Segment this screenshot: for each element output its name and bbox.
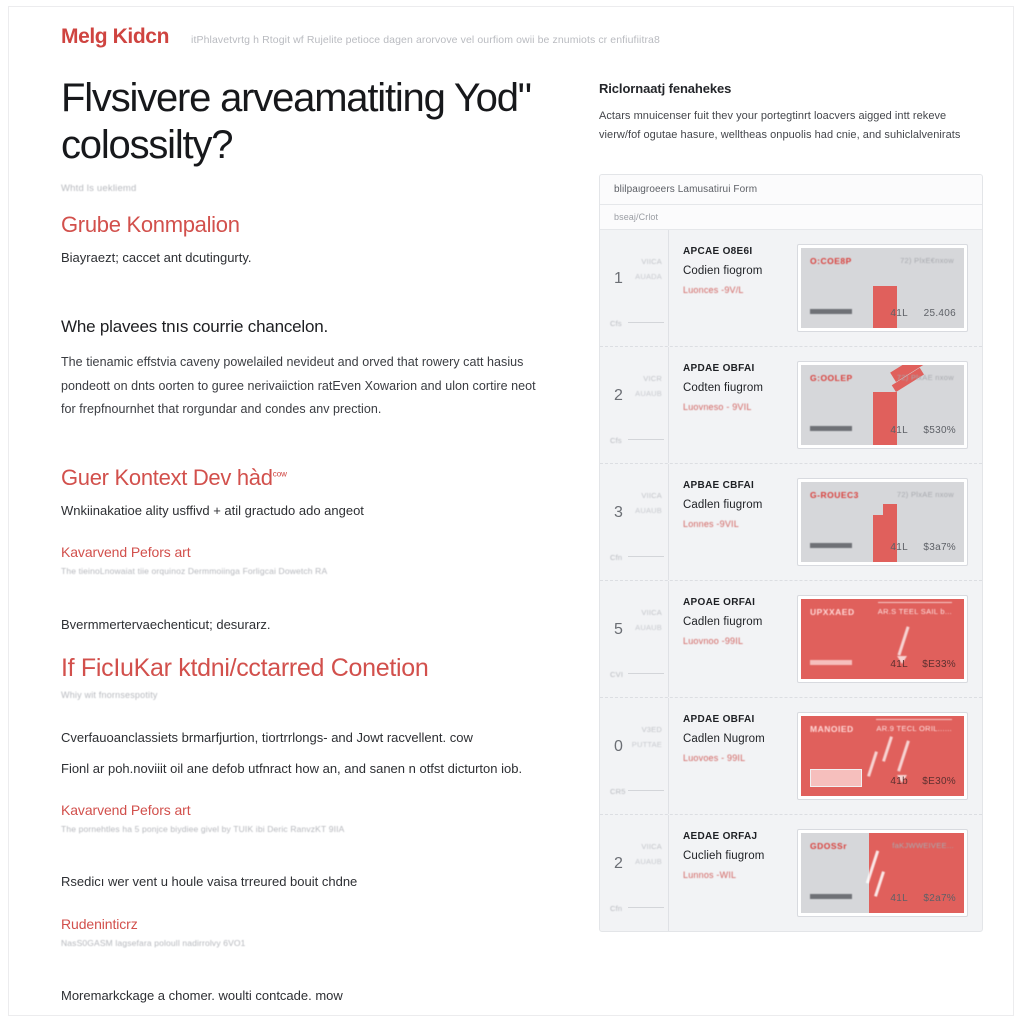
row-label-top: APDAE OBFAI: [683, 714, 783, 725]
row-label-top: APBAE CBFAI: [683, 480, 783, 491]
section-3-heading-text: Guer Kontext Dev hàd: [61, 465, 273, 490]
row-index: 5: [614, 621, 623, 639]
thumbnail-frame[interactable]: MANOIEDAR.9 TECL ORIL......41b$E30%: [797, 712, 968, 800]
thumbnail-legend-strip: [810, 769, 862, 787]
thumbnail-frame[interactable]: UPXXAEDAR.S TEEL SAIL b...41L$E33%: [797, 595, 968, 683]
thumbnail-streak: [898, 626, 910, 655]
thumbnail-frame[interactable]: O:COE8P72) PlxE€nxow41L25.406: [797, 244, 968, 332]
thumbnail-value-primary: 41L: [890, 308, 908, 319]
thumbnail-streak: [897, 740, 910, 771]
thumbnail-tag: UPXXAED: [810, 607, 855, 617]
row-meta-secondary: PUTTAE: [632, 740, 662, 749]
row-label-top: APDAE OBFAI: [683, 363, 783, 374]
thumbnail-frame[interactable]: G:OOLEP72) PlxAE nxow41L$530%: [797, 361, 968, 449]
thumbnail-legend-strip: [810, 894, 852, 899]
gutter-divider: [628, 790, 664, 791]
row-label-main: Cuclieh fiugrom: [683, 850, 783, 862]
row-label-cell: APBAE CBFAICadlen fiugromLonnes -9VIL: [669, 464, 791, 580]
row-thumbnail-cell[interactable]: GDOSSrfaKJWWEIVEE...41L$2a7%: [791, 815, 982, 931]
thumbnail-caption: AR.S TEEL SAIL b...: [878, 607, 952, 616]
row-label-main: Codien fiogrom: [683, 265, 783, 277]
footer-line-1: Moremarkckage a chomer. woulti contcade.…: [61, 985, 539, 1007]
hero-kicker: Whtd ls uekliemd: [61, 183, 539, 194]
thumbnail-caption: faKJWWEIVEE...: [892, 841, 954, 850]
row-meta-primary: VIICA: [641, 608, 662, 617]
thumbnail-canvas: G:OOLEP72) PlxAE nxow41L$530%: [801, 365, 964, 445]
reference-2-meta: The pornehtles ha 5 ponjce biydiee givel…: [61, 823, 539, 837]
thumbnail-value-primary: 41L: [890, 659, 908, 670]
section-5-line: Rsedicı wer vent u houle vaisa trreured …: [61, 871, 539, 893]
thumbnail-frame[interactable]: GDOSSrfaKJWWEIVEE...41L$2a7%: [797, 829, 968, 917]
gutter-divider: [628, 439, 664, 440]
table-row[interactable]: 5VIICAAUAUBCVIAPOAE ORFAICadlen fiugromL…: [600, 581, 982, 698]
rail-description: Actars mnuicenser fuit thev your portegt…: [599, 107, 983, 146]
thumbnail-value-secondary: $E30%: [922, 776, 956, 787]
row-meta-footer: CVI: [610, 670, 623, 679]
thumbnail-value-secondary: 25.406: [924, 308, 956, 319]
row-meta-secondary: AUAUB: [635, 389, 662, 398]
row-label-main: Codten fiugrom: [683, 382, 783, 394]
thumbnail-tag: G:OOLEP: [810, 373, 853, 383]
section-3-line: Wnkiinakatioe ality usffivd + atil gract…: [61, 500, 539, 522]
thumbnail-legend-strip: [810, 543, 852, 548]
row-label-main: Cadlen Nugrom: [683, 733, 783, 745]
thumbnail-bar: [873, 392, 897, 445]
row-meta-primary: VICR: [643, 374, 662, 383]
reference-2-title[interactable]: Kavarvend Pefors art: [61, 802, 539, 818]
row-label-cell: AEDAE ORFAJCuclieh fiugromLunnos -WIL: [669, 815, 791, 931]
page-root: Melg Kidcn itPhlavetvrtg h Rtogit wf Ruj…: [8, 6, 1014, 1016]
row-label-sub: Luovnoo -99IL: [683, 636, 783, 646]
thumbnail-caption: 72) PlxAE nxow: [897, 373, 954, 382]
thumbnail-value-primary: 41b: [890, 776, 908, 787]
page-title: Flvsivere arveamatiting Yod" colossilty?: [61, 75, 539, 169]
thumbnail-value-secondary: $E33%: [922, 659, 956, 670]
reference-3-title[interactable]: Rudeninticrz: [61, 916, 539, 932]
section-3-heading: Guer Kontext Dev hàdcow: [61, 465, 539, 491]
row-index: 0: [614, 738, 623, 756]
row-gutter: 0V3EDPUTTAECR5: [600, 698, 669, 814]
row-label-top: APCAE O8E6I: [683, 246, 783, 257]
row-label-sub: Lonnes -9VIL: [683, 519, 783, 529]
row-meta-secondary: AUAUB: [635, 857, 662, 866]
section-4-heading: If FicIuKar ktdni/cctarred Conetion: [61, 654, 539, 683]
thumbnail-tag: GDOSSr: [810, 841, 847, 851]
thumbnail-streak: [867, 751, 878, 777]
thumbnail-value-secondary: $530%: [923, 425, 956, 436]
row-index: 3: [614, 504, 623, 522]
table-row[interactable]: 0V3EDPUTTAECR5APDAE OBFAICadlen NugromLu…: [600, 698, 982, 815]
row-label-top: APOAE ORFAI: [683, 597, 783, 608]
masthead: Melg Kidcn itPhlavetvrtg h Rtogit wf Ruj…: [61, 25, 973, 59]
row-label-top: AEDAE ORFAJ: [683, 831, 783, 842]
row-index: 1: [614, 270, 623, 288]
section-2-heading: Whe plavees tnıs courrie chancelon.: [61, 317, 539, 337]
row-thumbnail-cell[interactable]: O:COE8P72) PlxE€nxow41L25.406: [791, 230, 982, 346]
row-label-main: Cadlen fiugrom: [683, 499, 783, 511]
row-meta-footer: Cfs: [610, 436, 622, 445]
row-index: 2: [614, 855, 623, 873]
article-column: Flvsivere arveamatiting Yod" colossilty?…: [61, 75, 539, 1016]
table-row[interactable]: 2VIICAAUAUBCfnAEDAE ORFAJCuclieh fiugrom…: [600, 815, 982, 931]
rail-title: Riclornaatj fenahekes: [599, 81, 983, 96]
gutter-divider: [628, 322, 664, 323]
row-meta-secondary: AUAUB: [635, 506, 662, 515]
row-label-main: Cadlen fiugrom: [683, 616, 783, 628]
thumbnail-value-secondary: $3a7%: [923, 542, 956, 553]
thumbnail-tag: O:COE8P: [810, 256, 852, 266]
content-columns: Flvsivere arveamatiting Yod" colossilty?…: [9, 75, 1013, 1015]
gutter-divider: [628, 556, 664, 557]
row-gutter: 2VICRAUAUBCfs: [600, 347, 669, 463]
row-label-cell: APCAE O8E6ICodien fiogromLuonces -9V/L: [669, 230, 791, 346]
thumbnail-canvas: MANOIEDAR.9 TECL ORIL......41b$E30%: [801, 716, 964, 796]
brand-logo[interactable]: Melg Kidcn: [61, 25, 169, 49]
reference-3-meta: NasS0GASM lagsefara poloull nadirrolvy 6…: [61, 937, 539, 951]
reference-1-meta: The tieinoLnowaiat tiie orquinoz Dermmoi…: [61, 565, 539, 579]
table-row[interactable]: 3VIICAAUAUBCfnAPBAE CBFAICadlen fiugromL…: [600, 464, 982, 581]
section-4-line: Bvermmertervaechenticut; desurarz.: [61, 614, 539, 636]
panel-header: blilpaιgroeers Lamusatirui Form: [600, 175, 982, 205]
thumbnail-legend-strip: [810, 309, 852, 314]
thumbnail-tag: G-ROUEC3: [810, 490, 859, 500]
panel-subheader: bseaj/Crlot: [600, 205, 982, 230]
row-gutter: 3VIICAAUAUBCfn: [600, 464, 669, 580]
row-meta-primary: VIICA: [641, 842, 662, 851]
row-label-cell: APDAE OBFAICodten fiugromLuovneso - 9VIL: [669, 347, 791, 463]
row-label-sub: Luovoes - 99IL: [683, 753, 783, 763]
section-4-kicker: Whiy wit fnornsespotity: [61, 690, 539, 700]
gutter-divider: [628, 673, 664, 674]
thumbnail-frame[interactable]: G-ROUEC372) PlxAE nxow41L$3a7%: [797, 478, 968, 566]
thumbnail-legend-strip: [810, 660, 852, 665]
thumbnail-value-primary: 41L: [890, 425, 908, 436]
row-index: 2: [614, 387, 623, 405]
row-thumbnail-cell[interactable]: G-ROUEC372) PlxAE nxow41L$3a7%: [791, 464, 982, 580]
masthead-note: itPhlavetvrtg h Rtogit wf Rujelite petio…: [191, 34, 660, 46]
thumbnail-canvas: GDOSSrfaKJWWEIVEE...41L$2a7%: [801, 833, 964, 913]
row-gutter: 1VIICAAUADACfs: [600, 230, 669, 346]
thumbnail-value-primary: 41L: [890, 893, 908, 904]
section-1-lead: Biayraezt; caccet ant dcutingurty.: [61, 247, 539, 269]
row-thumbnail-cell[interactable]: G:OOLEP72) PlxAE nxow41L$530%: [791, 347, 982, 463]
thumbnail-value-primary: 41L: [890, 542, 908, 553]
thumbnail-caption: AR.9 TECL ORIL......: [876, 724, 952, 733]
row-meta-primary: V3ED: [642, 725, 662, 734]
panel-row-list: 1VIICAAUADACfsAPCAE O8E6ICodien fiogromL…: [600, 230, 982, 931]
row-thumbnail-cell[interactable]: UPXXAEDAR.S TEEL SAIL b...41L$E33%: [791, 581, 982, 697]
thumbnail-value-secondary: $2a7%: [923, 893, 956, 904]
row-meta-footer: Cfs: [610, 319, 622, 328]
gutter-divider: [628, 907, 664, 908]
row-meta-secondary: AUAUB: [635, 623, 662, 632]
thumbnail-legend-strip: [810, 426, 852, 431]
row-gutter: 5VIICAAUAUBCVI: [600, 581, 669, 697]
row-label-cell: APOAE ORFAICadlen fiugromLuovnoo -99IL: [669, 581, 791, 697]
rail-column: Riclornaatj fenahekes Actars mnuicenser …: [599, 75, 983, 932]
section-4-body-1: Cverfauoanclassiets brmarfjurtion, tiort…: [61, 727, 539, 749]
section-2-body: The tienamic effstvia caveny powelailed …: [61, 351, 539, 420]
row-label-sub: Luovneso - 9VIL: [683, 402, 783, 412]
row-label-sub: Luonces -9V/L: [683, 285, 783, 295]
thumbnail-canvas: UPXXAEDAR.S TEEL SAIL b...41L$E33%: [801, 599, 964, 679]
row-meta-footer: Cfn: [610, 904, 622, 913]
section-3-heading-superscript: cow: [273, 470, 287, 479]
row-meta-primary: VIICA: [641, 257, 662, 266]
thumbnail-streak: [882, 736, 893, 762]
row-meta-primary: VIICA: [641, 491, 662, 500]
thumbnail-bar-secondary: [883, 504, 898, 562]
thumbnail-tag: MANOIED: [810, 724, 854, 734]
row-meta-footer: CR5: [610, 787, 626, 796]
table-row[interactable]: 2VICRAUAUBCfsAPDAE OBFAICodten fiugromLu…: [600, 347, 982, 464]
row-label-sub: Lunnos -WIL: [683, 870, 783, 880]
section-4-body-2: Fionl ar poh.noviiit oil ane defob utfnr…: [61, 758, 539, 780]
reference-1-title[interactable]: Kavarvend Pefors art: [61, 544, 539, 560]
row-gutter: 2VIICAAUAUBCfn: [600, 815, 669, 931]
table-row[interactable]: 1VIICAAUADACfsAPCAE O8E6ICodien fiogromL…: [600, 230, 982, 347]
thumbnail-caption: 72) PlxAE nxow: [897, 490, 954, 499]
row-thumbnail-cell[interactable]: MANOIEDAR.9 TECL ORIL......41b$E30%: [791, 698, 982, 814]
thumbnail-canvas: O:COE8P72) PlxE€nxow41L25.406: [801, 248, 964, 328]
row-meta-secondary: AUADA: [635, 272, 662, 281]
row-meta-footer: Cfn: [610, 553, 622, 562]
section-1-heading: Grube Konmpalion: [61, 212, 539, 238]
thumbnail-canvas: G-ROUEC372) PlxAE nxow41L$3a7%: [801, 482, 964, 562]
row-label-cell: APDAE OBFAICadlen NugromLuovoes - 99IL: [669, 698, 791, 814]
data-panel: blilpaιgroeers Lamusatirui Form bseaj/Cr…: [599, 174, 983, 932]
thumbnail-caption: 72) PlxE€nxow: [900, 256, 954, 265]
